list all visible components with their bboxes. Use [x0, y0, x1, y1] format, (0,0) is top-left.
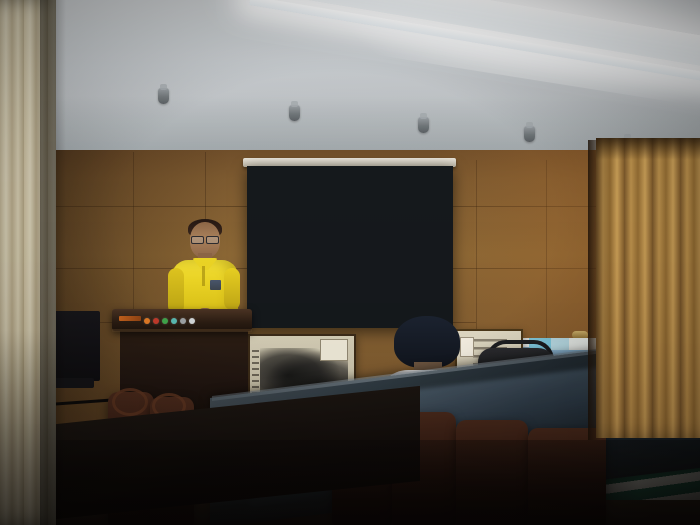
painting-label-card: [320, 339, 348, 361]
control-button-orange[interactable]: [144, 318, 150, 324]
foreground-shadow: [0, 440, 700, 525]
presenter-arm-right: [224, 268, 240, 310]
control-button-teal[interactable]: [171, 318, 177, 324]
glasses-lens-right: [206, 236, 219, 244]
polo-placket: [202, 266, 205, 286]
lectern-edge: [112, 329, 252, 332]
control-button-green[interactable]: [162, 318, 168, 324]
presenter-arm-left: [168, 268, 184, 314]
track-spotlight-2: [289, 105, 300, 121]
left-curtain-lower-shadow: [0, 330, 56, 525]
control-button-silver[interactable]: [189, 318, 195, 324]
track-spotlight-3: [418, 117, 429, 133]
control-button-red[interactable]: [153, 318, 159, 324]
right-curtain: [596, 138, 700, 438]
projection-screen-frame: 某化工原料的竞争合规与 财务风险报告 报 告 人：王建华 单 位：研究院 / 法…: [247, 166, 453, 328]
control-button-grey[interactable]: [180, 318, 186, 324]
track-spotlight-4: [524, 126, 535, 142]
glasses-icon: [191, 236, 219, 242]
chair-curl-1: [112, 388, 148, 416]
glasses-lens-left: [191, 236, 204, 244]
audience-front-hair: [394, 316, 460, 368]
track-spotlight-1: [158, 88, 169, 104]
photo-scene: 某化工原料的竞争合规与 财务风险报告 报 告 人：王建华 单 位：研究院 / 法…: [0, 0, 700, 525]
right-curtain-top-shadow: [596, 138, 700, 160]
shirt-chest-logo: [210, 280, 221, 290]
lectern-control-panel[interactable]: [120, 317, 196, 325]
